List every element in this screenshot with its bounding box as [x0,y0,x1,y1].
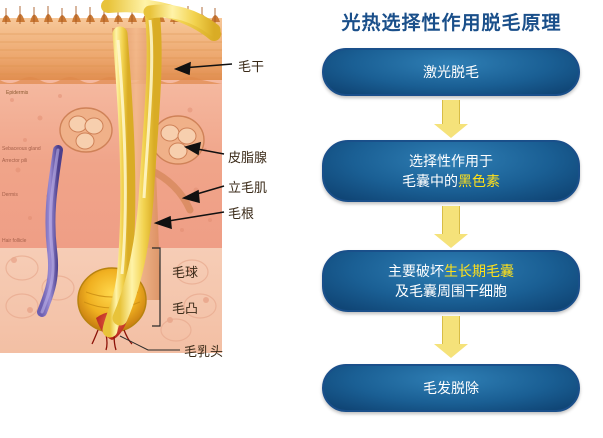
flow-node-selective-melanin: 选择性作用于 毛囊中的黑色素 [322,140,580,202]
flow-arrow-3 [434,316,468,358]
flow-node-2-line2-prefix: 毛囊中的 [402,173,458,189]
svg-text:Dermis: Dermis [2,192,18,198]
svg-text:Arrector pili: Arrector pili [2,158,27,164]
label-hair-bulb: 毛球 [172,262,198,281]
svg-text:Hair follicle: Hair follicle [2,238,27,244]
flow-node-destroy-anagen-follicle: 主要破坏生长期毛囊 及毛囊周围干细胞 [322,250,580,312]
diagram-page: Epidermis Sebaceous gland Arrector pili … [0,0,603,438]
svg-text:Sebaceous gland: Sebaceous gland [2,146,41,152]
label-dermal-papilla: 毛乳头 [184,341,223,360]
flow-node-2-line2: 毛囊中的黑色素 [402,171,500,191]
hair-removal-principle-flowchart: 光热选择性作用脱毛原理 激光脱毛 选择性作用于 毛囊中的黑色素 主要破坏生长期毛… [300,0,603,438]
flow-arrow-3-shaft [442,316,460,344]
label-arrector-pili-muscle: 立毛肌 [228,177,267,196]
label-hair-shaft: 毛干 [238,56,264,75]
flow-arrow-1 [434,100,468,138]
flow-arrow-1-shaft [442,100,460,124]
flow-arrow-2-shaft [442,206,460,234]
flow-node-laser-hair-removal: 激光脱毛 [322,48,580,96]
svg-text:Epidermis: Epidermis [6,90,29,96]
flow-node-hair-removed: 毛发脱除 [322,364,580,412]
flow-node-2-highlight-melanin: 黑色素 [458,173,500,189]
flow-node-3-line2: 及毛囊周围干细胞 [395,281,507,301]
flow-node-4-text: 毛发脱除 [423,378,479,398]
flow-node-2-line1: 选择性作用于 [409,151,493,171]
flow-arrow-2 [434,206,468,248]
flow-node-3-line1: 主要破坏生长期毛囊 [388,261,514,281]
label-sebaceous-gland: 皮脂腺 [228,147,267,166]
flow-node-1-text: 激光脱毛 [423,62,479,82]
hair-follicle-illustration: Epidermis Sebaceous gland Arrector pili … [0,0,300,438]
flow-node-3-line1-prefix: 主要破坏 [388,263,444,279]
flow-arrow-2-head [434,234,468,248]
flow-node-3-highlight-anagen-follicle: 生长期毛囊 [444,263,514,279]
flow-arrow-3-head [434,344,468,358]
label-hair-bulge: 毛凸 [172,298,198,317]
flowchart-title: 光热选择性作用脱毛原理 [300,8,603,35]
label-hair-root: 毛根 [228,203,254,222]
flow-arrow-1-head [434,124,468,138]
